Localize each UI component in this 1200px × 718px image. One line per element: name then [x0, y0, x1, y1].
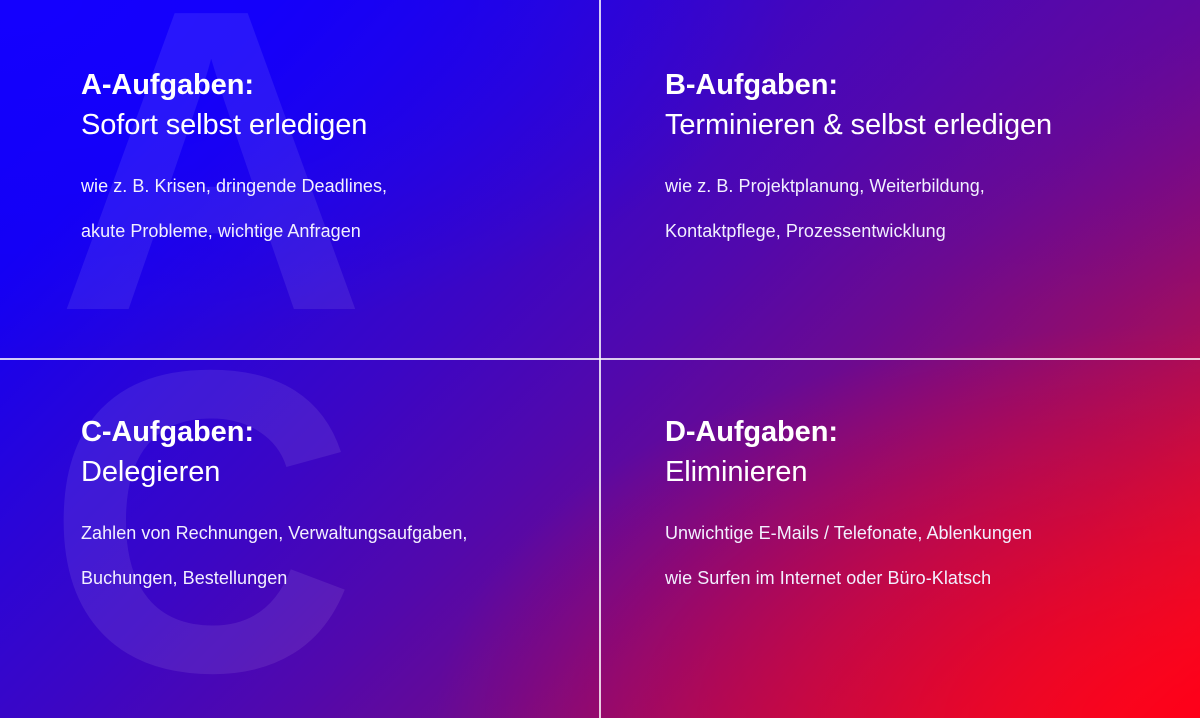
- quadrant-d-content: D-Aufgaben: Eliminieren Unwichtige E-Mai…: [600, 359, 1200, 601]
- quadrant-c-title-light: Delegieren: [81, 451, 570, 495]
- quadrant-grid: A A-Aufgaben: Sofort selbst erledigen wi…: [0, 0, 1200, 718]
- quadrant-c[interactable]: C C-Aufgaben: Delegieren Zahlen von Rech…: [0, 359, 600, 718]
- quadrant-a-detail: wie z. B. Krisen, dringende Deadlines, a…: [81, 164, 570, 254]
- quadrant-d[interactable]: D D-Aufgaben: Eliminieren Unwichtige E-M…: [600, 359, 1200, 718]
- quadrant-d-detail-line-2: wie Surfen im Internet oder Büro-Klatsch: [665, 556, 1170, 601]
- quadrant-d-detail-line-1: Unwichtige E-Mails / Telefonate, Ablenku…: [665, 511, 1170, 556]
- quadrant-a-detail-line-1: wie z. B. Krisen, dringende Deadlines,: [81, 164, 570, 209]
- quadrant-c-detail: Zahlen von Rechnungen, Verwaltungsaufgab…: [81, 511, 570, 601]
- quadrant-b-detail-line-2: Kontaktpflege, Prozessentwicklung: [665, 209, 1170, 254]
- quadrant-a-title-light: Sofort selbst erledigen: [81, 104, 570, 148]
- quadrant-c-detail-line-1: Zahlen von Rechnungen, Verwaltungsaufgab…: [81, 511, 570, 556]
- quadrant-a-content: A-Aufgaben: Sofort selbst erledigen wie …: [0, 0, 600, 254]
- quadrant-d-title-light: Eliminieren: [665, 451, 1170, 495]
- abc-task-matrix: A A-Aufgaben: Sofort selbst erledigen wi…: [0, 0, 1200, 718]
- quadrant-b[interactable]: B B-Aufgaben: Terminieren & selbst erled…: [600, 0, 1200, 359]
- quadrant-d-title-strong: D-Aufgaben:: [665, 415, 1170, 449]
- quadrant-b-detail: wie z. B. Projektplanung, Weiterbildung,…: [665, 164, 1170, 254]
- quadrant-c-content: C-Aufgaben: Delegieren Zahlen von Rechnu…: [0, 359, 600, 601]
- quadrant-c-detail-line-2: Buchungen, Bestellungen: [81, 556, 570, 601]
- quadrant-b-detail-line-1: wie z. B. Projektplanung, Weiterbildung,: [665, 164, 1170, 209]
- quadrant-a-detail-line-2: akute Probleme, wichtige Anfragen: [81, 209, 570, 254]
- quadrant-b-content: B-Aufgaben: Terminieren & selbst erledig…: [600, 0, 1200, 254]
- quadrant-a-title-strong: A-Aufgaben:: [81, 68, 570, 102]
- quadrant-d-detail: Unwichtige E-Mails / Telefonate, Ablenku…: [665, 511, 1170, 601]
- quadrant-b-title-strong: B-Aufgaben:: [665, 68, 1170, 102]
- quadrant-c-title-strong: C-Aufgaben:: [81, 415, 570, 449]
- quadrant-a[interactable]: A A-Aufgaben: Sofort selbst erledigen wi…: [0, 0, 600, 359]
- quadrant-b-title-light: Terminieren & selbst erledigen: [665, 104, 1170, 148]
